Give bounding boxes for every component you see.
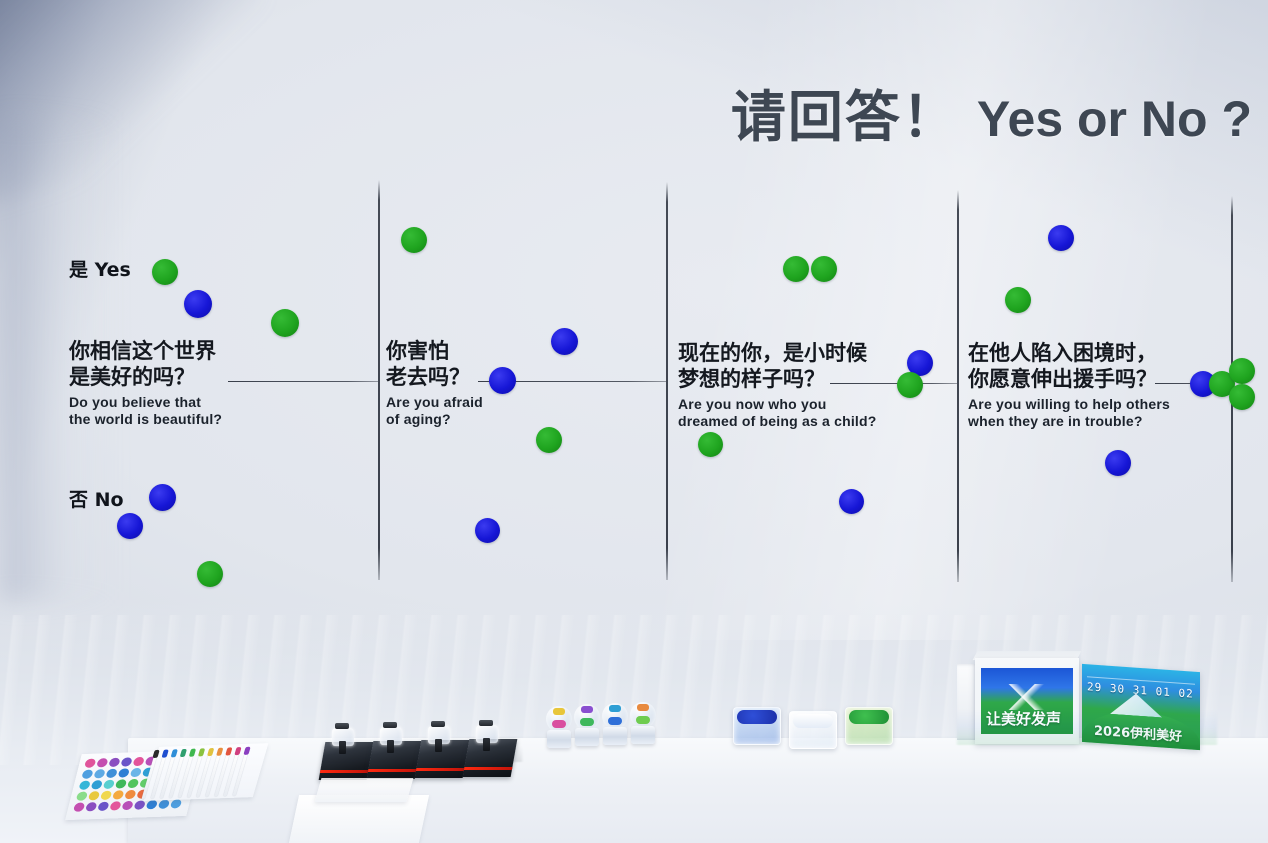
question-2-en-line-1: Are you afraid bbox=[386, 394, 483, 411]
divider-line-1 bbox=[378, 180, 380, 580]
question-1-cn-line-1: 你相信这个世界 bbox=[69, 338, 222, 364]
vote-dot-green[interactable] bbox=[197, 561, 223, 587]
question-panel-4: 在他人陷入困境时， 你愿意伸出援手吗？ Are you willing to h… bbox=[968, 340, 1170, 430]
crystal-ornament[interactable] bbox=[476, 725, 498, 743]
vote-dot-blue[interactable] bbox=[839, 489, 864, 514]
question-2-cn-line-2: 老去吗？ bbox=[386, 364, 483, 390]
product-box-face: 让美好发声 bbox=[975, 658, 1079, 744]
sticker-dot[interactable] bbox=[158, 800, 170, 809]
vote-dot-blue[interactable] bbox=[117, 513, 143, 539]
question-4-cn-line-2: 你愿意伸出援手吗？ bbox=[968, 366, 1170, 392]
sticker-dot[interactable] bbox=[97, 802, 109, 811]
question-1-en-line-2: the world is beautiful? bbox=[69, 411, 222, 428]
sticker-dot[interactable] bbox=[115, 779, 127, 788]
title-chinese: 请回答！ bbox=[731, 85, 959, 149]
sticker-dot[interactable] bbox=[146, 800, 158, 809]
sticker-dot[interactable] bbox=[108, 758, 120, 767]
question-panel-1: 你相信这个世界 是美好的吗？ Do you believe that the w… bbox=[69, 338, 222, 428]
vote-dot-green[interactable] bbox=[811, 256, 837, 282]
sticker-dot[interactable] bbox=[121, 801, 133, 810]
sticker-dot[interactable] bbox=[134, 800, 146, 809]
glass-box-clear[interactable] bbox=[789, 711, 837, 749]
question-panel-3: 现在的你，是小时候 梦想的样子吗？ Are you now who you dr… bbox=[678, 340, 877, 430]
crystal-trophy[interactable] bbox=[573, 704, 601, 746]
vote-dot-green[interactable] bbox=[152, 259, 178, 285]
crystal-trophy[interactable] bbox=[545, 706, 573, 748]
sticker-dot[interactable] bbox=[73, 803, 85, 812]
product-box-artwork: 让美好发声 bbox=[981, 668, 1073, 734]
sticker-dot[interactable] bbox=[93, 769, 105, 778]
exhibit-photo: 请回答！Yes or No ? 是 Yes 否 No 你相信这个世界 是美好的吗… bbox=[0, 0, 1268, 843]
vote-dot-blue[interactable] bbox=[149, 484, 176, 511]
divider-line-3 bbox=[957, 190, 959, 582]
sticker-dot[interactable] bbox=[78, 781, 90, 790]
sticker-dot[interactable] bbox=[88, 791, 100, 800]
question-1-en-line-1: Do you believe that bbox=[69, 394, 222, 411]
sticker-dot[interactable] bbox=[118, 768, 130, 777]
sticker-dot[interactable] bbox=[103, 780, 115, 789]
product-slogan: 让美好发声 bbox=[986, 708, 1061, 729]
divider-line-2 bbox=[666, 182, 668, 580]
question-2-en-line-2: of aging? bbox=[386, 411, 483, 428]
vote-dot-blue[interactable] bbox=[551, 328, 578, 355]
crystal-ornament[interactable] bbox=[380, 727, 402, 745]
question-3-cn-line-2: 梦想的样子吗？ bbox=[678, 366, 877, 392]
product-box-side-panel[interactable]: 29 30 31 01 02 03 04 2026伊利美好 bbox=[1082, 664, 1200, 750]
vote-dot-green[interactable] bbox=[271, 309, 299, 337]
vote-dot-blue[interactable] bbox=[184, 290, 212, 318]
question-3-cn-line-1: 现在的你，是小时候 bbox=[678, 340, 877, 366]
sticker-dot[interactable] bbox=[105, 769, 117, 778]
marker-pens[interactable] bbox=[152, 745, 260, 799]
vote-dot-blue[interactable] bbox=[1048, 225, 1074, 251]
vote-dot-green[interactable] bbox=[1005, 287, 1031, 313]
sticker-dot[interactable] bbox=[130, 768, 142, 777]
sticker-dot[interactable] bbox=[170, 799, 182, 808]
product-box-side bbox=[957, 664, 977, 740]
trophy-stand[interactable] bbox=[319, 742, 374, 780]
sticker-dot[interactable] bbox=[76, 792, 88, 801]
crystal-trophy[interactable] bbox=[601, 703, 629, 745]
trophy-stand[interactable] bbox=[463, 739, 518, 777]
question-3-en-line-2: dreamed of being as a child? bbox=[678, 413, 877, 430]
sticker-dot[interactable] bbox=[120, 757, 132, 766]
vote-dot-green[interactable] bbox=[401, 227, 427, 253]
trophy-stand[interactable] bbox=[367, 741, 422, 779]
question-3-en-line-1: Are you now who you bbox=[678, 396, 877, 413]
floor-card bbox=[289, 795, 429, 843]
floor-card-2 bbox=[315, 778, 414, 802]
trophy-stand[interactable] bbox=[415, 740, 470, 778]
question-1-cn-line-2: 是美好的吗？ bbox=[69, 364, 222, 390]
crystal-ornament[interactable] bbox=[332, 728, 354, 746]
title-english: Yes or No ? bbox=[977, 91, 1252, 147]
vote-dot-green[interactable] bbox=[1229, 384, 1255, 410]
sticker-dot[interactable] bbox=[100, 791, 112, 800]
question-4-en-line-2: when they are in trouble? bbox=[968, 413, 1170, 430]
sticker-dot[interactable] bbox=[91, 780, 103, 789]
glass-box-green[interactable] bbox=[845, 707, 893, 745]
question-4-cn-line-1: 在他人陷入困境时， bbox=[968, 340, 1170, 366]
sticker-dot[interactable] bbox=[84, 759, 96, 768]
question-4-en-line-1: Are you willing to help others bbox=[968, 396, 1170, 413]
vote-dot-green[interactable] bbox=[698, 432, 723, 457]
vote-dot-green[interactable] bbox=[1229, 358, 1255, 384]
vote-dot-green[interactable] bbox=[783, 256, 809, 282]
sticker-dot[interactable] bbox=[127, 779, 139, 788]
sticker-dot[interactable] bbox=[109, 801, 121, 810]
sticker-dot[interactable] bbox=[112, 790, 124, 799]
axis-label-yes: 是 Yes bbox=[69, 255, 131, 282]
question-panel-2: 你害怕 老去吗？ Are you afraid of aging? bbox=[386, 338, 483, 428]
question-3-baseline bbox=[830, 383, 957, 384]
mountain-graphic bbox=[981, 684, 1073, 710]
crystal-trophy[interactable] bbox=[629, 702, 657, 744]
sticker-dot[interactable] bbox=[85, 802, 97, 811]
crystal-ornament[interactable] bbox=[428, 726, 450, 744]
sticker-dot[interactable] bbox=[96, 758, 108, 767]
page-title: 请回答！Yes or No ? bbox=[731, 72, 1252, 152]
question-1-baseline bbox=[228, 381, 378, 382]
vote-dot-blue[interactable] bbox=[1105, 450, 1131, 476]
vote-dot-green[interactable] bbox=[536, 427, 562, 453]
glass-box-blue[interactable] bbox=[733, 707, 781, 745]
sticker-dot[interactable] bbox=[132, 757, 144, 766]
vote-dot-green[interactable] bbox=[897, 372, 923, 398]
question-2-cn-line-1: 你害怕 bbox=[386, 338, 483, 364]
sticker-dot[interactable] bbox=[81, 770, 93, 779]
vote-dot-blue[interactable] bbox=[489, 367, 516, 394]
vote-dot-blue[interactable] bbox=[475, 518, 500, 543]
sticker-dot[interactable] bbox=[124, 790, 136, 799]
axis-label-no: 否 No bbox=[69, 485, 124, 512]
